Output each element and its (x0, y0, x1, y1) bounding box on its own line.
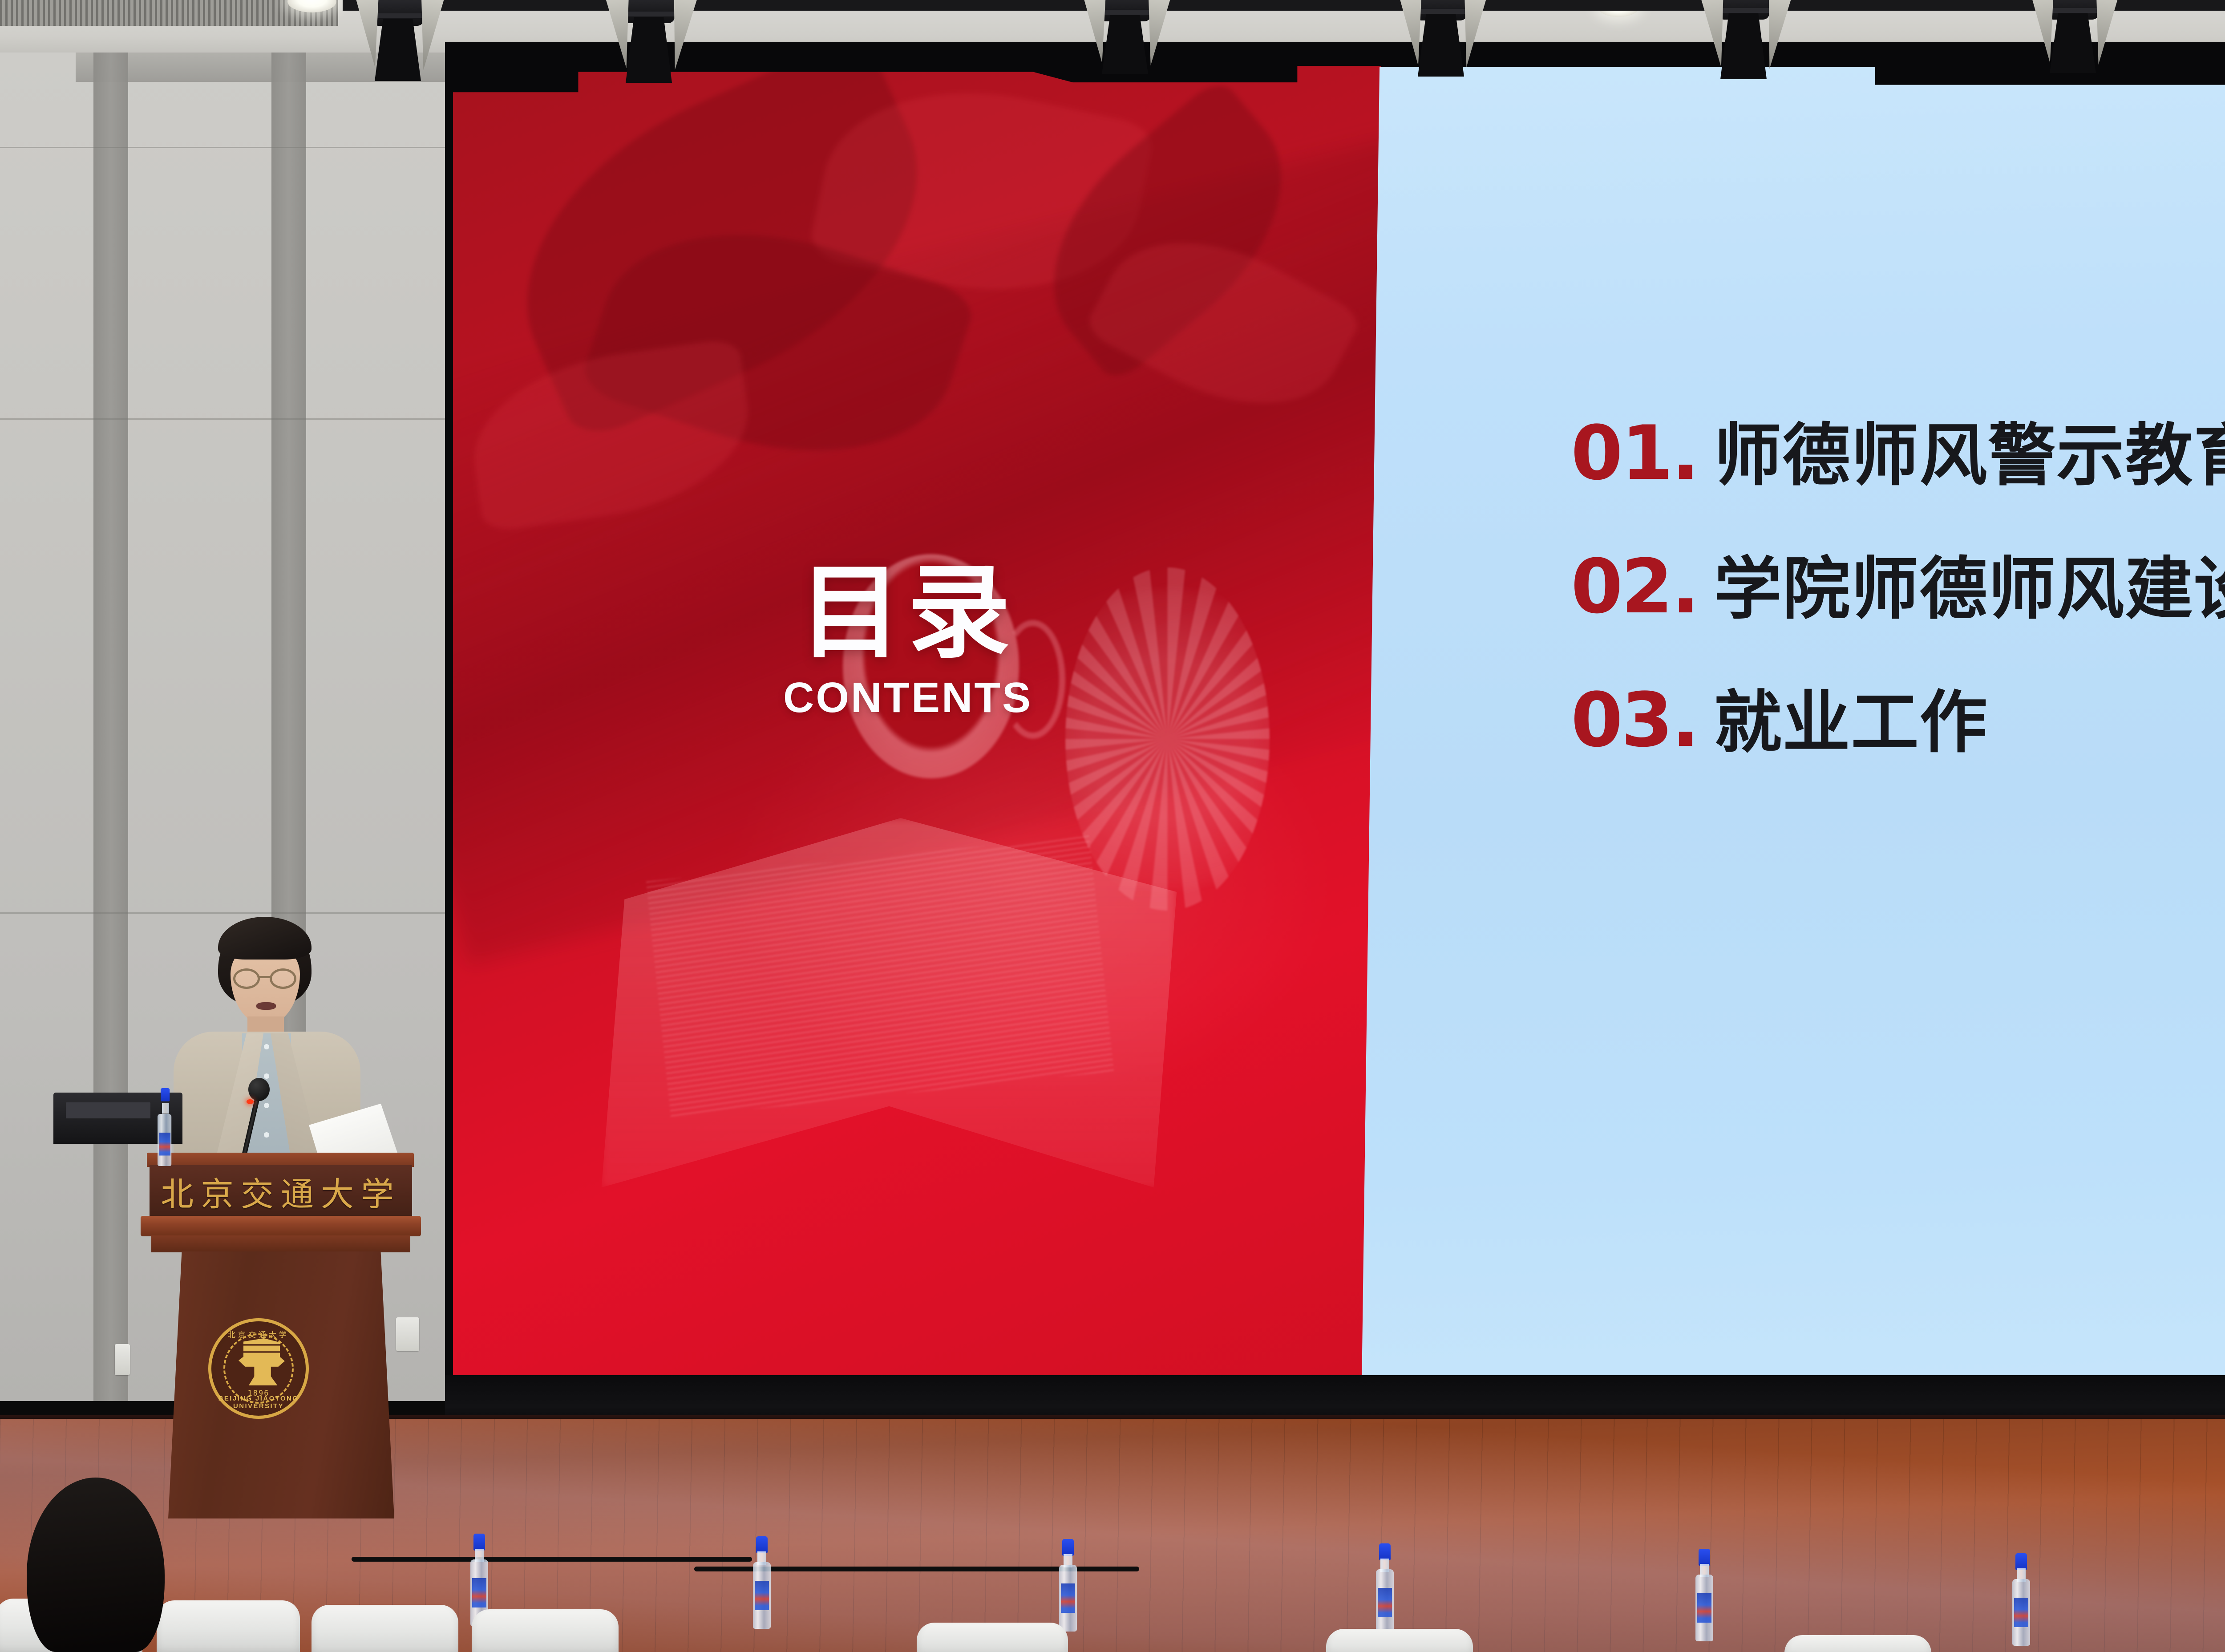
podium-name-plate-text: 北京交通大学 (161, 1168, 401, 1215)
toc-number: 01. (1571, 409, 1698, 497)
audience-seat (917, 1623, 1068, 1652)
emblem-en-text: BEIJING JIAOTONG UNIVERSITY (211, 1395, 306, 1410)
presentation-hall-scene: 目录 CONTENTS 01. 师德师风警示教育 02. 学院师德师风建设工作 … (0, 0, 2225, 1652)
bottle-label (1697, 1593, 1711, 1623)
toc-number: 02. (1571, 543, 1698, 630)
bottle-cap (756, 1536, 768, 1553)
ceiling-air-grille (0, 0, 338, 26)
bottle-label (472, 1578, 486, 1607)
microphone-status-led (247, 1099, 254, 1104)
list-item[interactable]: 01. 师德师风警示教育 (1571, 401, 2225, 534)
bottle-label (755, 1581, 769, 1610)
wall-socket[interactable] (396, 1317, 419, 1351)
bottle-cap (2015, 1553, 2027, 1570)
toc-number: 03. (1571, 676, 1698, 764)
audience-seat (472, 1609, 619, 1652)
laptop-screen (66, 1102, 150, 1118)
university-emblem-icon: 北京交通大学 1896 BEIJING JIAOTONG UNIVERSITY (208, 1318, 309, 1419)
speaker-mouth (256, 1002, 276, 1010)
wall-panel-seam (0, 418, 449, 420)
book-text-lines-decor (646, 835, 1114, 1118)
speaker-person (147, 917, 378, 1184)
table-of-contents-list: 01. 师德师风警示教育 02. 学院师德师风建设工作 03. 就业工作 (1571, 401, 2225, 801)
shirt-button (264, 1044, 269, 1049)
slide-title-en: CONTENTS (708, 676, 1108, 719)
floor-cable (352, 1557, 752, 1562)
bottle-label (1378, 1588, 1392, 1617)
audience-seat (1784, 1635, 1931, 1652)
bottle-cap (1699, 1549, 1710, 1566)
toc-label: 学院师德师风建设工作 (1714, 534, 2225, 632)
audience-seat (157, 1600, 300, 1652)
audience-seat (311, 1605, 458, 1652)
list-item[interactable]: 03. 就业工作 (1571, 668, 2225, 801)
slide-title-block: 目录 CONTENTS (708, 562, 1108, 719)
toc-label: 师德师风警示教育 (1714, 401, 2225, 498)
shirt-button (264, 1103, 269, 1108)
eyeglasses-icon (270, 968, 296, 989)
eyeglasses-icon (233, 968, 260, 989)
podium-name-plate: 北京交通大学 (150, 1165, 412, 1218)
water-bottle[interactable] (157, 1088, 176, 1144)
bottle-neck (162, 1103, 169, 1113)
slide-left-panel (453, 66, 1381, 1385)
emblem-books-icon (243, 1338, 280, 1357)
shirt-button (264, 1073, 269, 1079)
bottle-cap (473, 1534, 485, 1551)
eyeglasses-bridge (259, 976, 271, 978)
toc-label: 就业工作 (1714, 668, 1988, 765)
speaker-hair-front (218, 917, 311, 960)
bottle-cap (161, 1088, 170, 1101)
podium-molding-upper (141, 1216, 421, 1236)
podium-molding-lower (151, 1235, 410, 1252)
wall-panel-seam (0, 147, 449, 148)
bottle-label (159, 1133, 170, 1155)
slide-title-cn: 目录 (708, 562, 1108, 664)
bottle-cap (1379, 1543, 1391, 1560)
bottle-label (1061, 1583, 1075, 1613)
microphone-icon (248, 1078, 270, 1101)
wall-pilaster (93, 53, 128, 1401)
list-item[interactable]: 02. 学院师德师风建设工作 (1571, 534, 2225, 668)
podium: 北京交通大学 北京交通大学 1896 BEIJING JIAOTONG UNIV… (133, 1153, 436, 1522)
wall-panel-seam (0, 912, 449, 914)
wall-switch[interactable] (115, 1344, 130, 1375)
audience-seat (1326, 1629, 1473, 1652)
bottle-cap (1062, 1539, 1074, 1556)
bottle-label (2014, 1598, 2028, 1627)
shirt-button (264, 1132, 269, 1138)
